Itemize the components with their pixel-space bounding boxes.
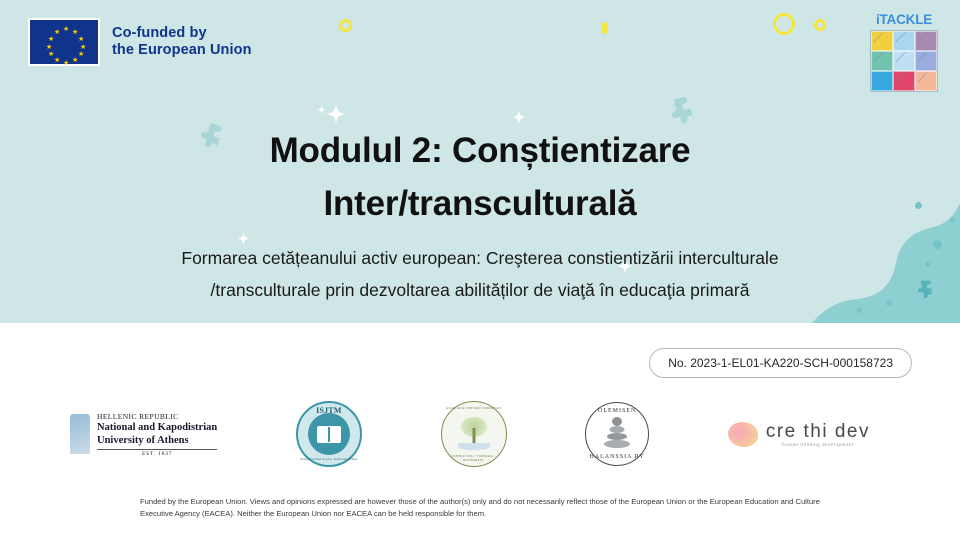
eu-cofunded-logo: ★ ★ ★ ★ ★ ★ ★ ★ ★ ★ ★ ★ Co-funded by the… <box>28 18 252 66</box>
eu-logo-line1: Co-funded by <box>112 25 252 42</box>
puzzle-cell <box>915 31 937 51</box>
partner-logo-cre-thi-dev: cre thi dev human thinking development <box>728 398 870 470</box>
eu-logo-line2: the European Union <box>112 42 252 59</box>
slide-root: ★ ★ ★ ★ ★ ★ ★ ★ ★ ★ ★ ★ Co-funded by the… <box>0 0 960 540</box>
puzzle-cell <box>915 71 937 91</box>
eu-logo-text: Co-funded by the European Union <box>112 25 252 59</box>
olemisen-ring-top: OLEMISEN <box>589 408 645 414</box>
partner-logo-olemisen-balanssia: OLEMISEN BALANSSIA RY <box>585 398 649 470</box>
page-title: Modulul 2: Conștientizare Inter/transcul… <box>0 124 960 230</box>
partner-logo-isjtm: ISJTM Inspectoratul Scolar Judetean Timi… <box>296 398 362 470</box>
nkua-emblem-icon <box>70 414 90 454</box>
yellow-ring-decoration <box>773 13 795 35</box>
nkua-line3: University of Athens <box>97 434 217 447</box>
ctd-tagline: human thinking development <box>766 442 870 447</box>
puzzle-cell <box>915 51 937 71</box>
decorative-dot <box>886 300 892 306</box>
isjtm-seal-icon: ISJTM Inspectoratul Scolar Judetean Timi… <box>296 401 362 467</box>
ctd-text-block: cre thi dev human thinking development <box>766 422 870 447</box>
itackle-wordmark: iTACKLE <box>866 12 942 27</box>
yellow-ring-decoration <box>814 19 826 31</box>
romanian-seal-ring-bottom: CENTRU DELL' TIMPARIA - BUCHAREST <box>445 454 503 462</box>
partner-logo-romanian-seal: ASOCIATIA CENTRUL EUROPEAN CENTRU DELL' … <box>441 398 507 470</box>
puzzle-piece-icon <box>912 278 938 304</box>
partner-logos-row: HELLENIC REPUBLIC National and Kapodistr… <box>70 395 870 473</box>
nkua-line2: National and Kapodistrian <box>97 421 217 434</box>
funding-disclaimer: Funded by the European Union. Views and … <box>140 496 820 519</box>
decorative-dot <box>933 240 942 249</box>
isjtm-inner-circle <box>308 413 350 455</box>
nkua-line1: HELLENIC REPUBLIC <box>97 412 217 421</box>
footer-section: No. 2023-1-EL01-KA220-SCH-000158723 HELL… <box>0 323 960 540</box>
sparkle-icon <box>326 104 346 124</box>
isjtm-acronym: ISJTM <box>316 406 341 415</box>
puzzle-cell <box>871 31 893 51</box>
tree-icon <box>454 415 494 453</box>
nkua-text-block: HELLENIC REPUBLIC National and Kapodistr… <box>97 412 217 457</box>
puzzle-cell <box>871 51 893 71</box>
book-base <box>458 443 490 450</box>
decorative-dot <box>857 308 862 313</box>
nkua-established: EST. 1837 <box>97 449 217 457</box>
olemisen-ring-bottom: BALANSSIA RY <box>589 454 645 460</box>
yellow-dot-decoration <box>601 22 608 34</box>
stone <box>610 426 625 433</box>
sparkle-icon <box>317 105 326 114</box>
header-band: ★ ★ ★ ★ ★ ★ ★ ★ ★ ★ ★ ★ Co-funded by the… <box>0 0 960 323</box>
title-line-2: Inter/transculturală <box>0 177 960 230</box>
title-line-1: Modulul 2: Conștientizare <box>0 124 960 177</box>
itackle-puzzle-icon <box>870 30 938 92</box>
decorative-dot <box>925 262 930 267</box>
puzzle-cell <box>893 31 915 51</box>
subtitle-line-1: Formarea cetățeanului activ european: Cr… <box>90 242 870 274</box>
puzzle-cell <box>893 51 915 71</box>
romanian-seal-icon: ASOCIATIA CENTRUL EUROPEAN CENTRU DELL' … <box>441 401 507 467</box>
tree-trunk <box>472 428 475 444</box>
ctd-name: cre thi dev <box>766 422 870 442</box>
yellow-ring-decoration <box>339 19 352 32</box>
stone <box>607 433 627 440</box>
stone <box>604 440 630 448</box>
project-number-badge: No. 2023-1-EL01-KA220-SCH-000158723 <box>649 348 912 378</box>
brain-icon <box>728 422 758 447</box>
romanian-seal-ring-top: ASOCIATIA CENTRUL EUROPEAN <box>445 406 503 410</box>
puzzle-cell <box>871 71 893 91</box>
subtitle-line-2: /transculturale prin dezvoltarea abilită… <box>90 274 870 306</box>
itackle-logo: iTACKLE <box>866 12 942 92</box>
olemisen-seal-icon: OLEMISEN BALANSSIA RY <box>585 402 649 466</box>
partner-logo-nkua: HELLENIC REPUBLIC National and Kapodistr… <box>70 398 217 470</box>
page-subtitle: Formarea cetățeanului activ european: Cr… <box>90 242 870 306</box>
eu-flag-icon: ★ ★ ★ ★ ★ ★ ★ ★ ★ ★ ★ ★ <box>28 18 100 66</box>
isjtm-ring-text: Inspectoratul Scolar Judetean Timis <box>299 457 359 461</box>
open-book-icon <box>317 426 341 443</box>
stacked-stones-icon <box>602 417 632 451</box>
sparkle-icon <box>512 110 526 124</box>
stone <box>612 417 622 426</box>
puzzle-cell <box>893 71 915 91</box>
